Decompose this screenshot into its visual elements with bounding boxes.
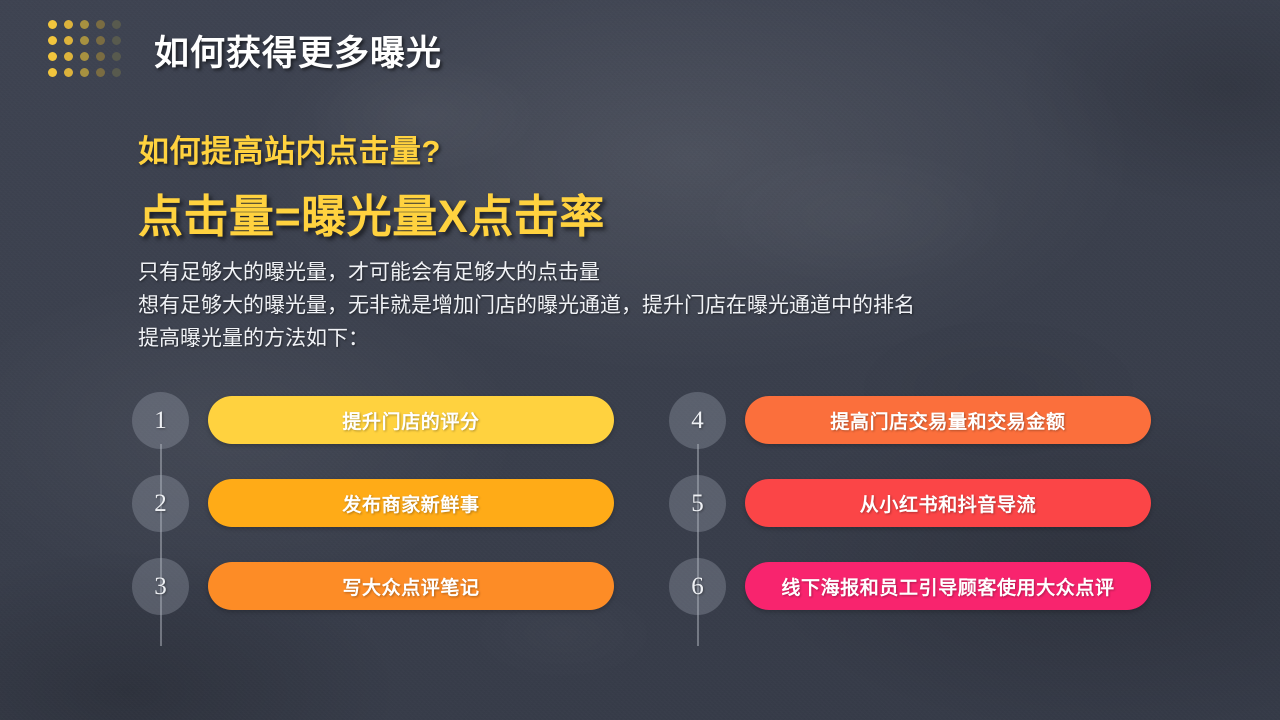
step-item[interactable]: 3 写大众点评笔记 (132, 562, 614, 610)
step-item[interactable]: 1 提升门店的评分 (132, 396, 614, 444)
step-number-badge: 4 (669, 392, 726, 449)
slide-header: 如何获得更多曝光 (0, 0, 1280, 100)
step-pill-button[interactable]: 发布商家新鲜事 (208, 479, 614, 527)
step-number-badge: 5 (669, 475, 726, 532)
step-pill-button[interactable]: 提升门店的评分 (208, 396, 614, 444)
step-item[interactable]: 2 发布商家新鲜事 (132, 479, 614, 527)
body-line: 提高曝光量的方法如下： (138, 322, 1158, 355)
dot-grid-dot (96, 68, 105, 77)
step-number-badge: 1 (132, 392, 189, 449)
step-item[interactable]: 4 提高门店交易量和交易金额 (669, 396, 1151, 444)
steps-column-right: 4 提高门店交易量和交易金额 5 从小红书和抖音导流 6 线下海报和员工引导顾客… (669, 396, 1151, 610)
page-title: 如何获得更多曝光 (154, 25, 442, 76)
dot-grid-dot (112, 20, 121, 29)
dot-grid-dot (64, 52, 73, 61)
step-item[interactable]: 6 线下海报和员工引导顾客使用大众点评 (669, 562, 1151, 610)
step-pill-button[interactable]: 写大众点评笔记 (208, 562, 614, 610)
dot-grid-dot (64, 20, 73, 29)
dot-grid-dot (64, 68, 73, 77)
step-pill-button[interactable]: 线下海报和员工引导顾客使用大众点评 (745, 562, 1151, 610)
steps-container: 1 提升门店的评分 2 发布商家新鲜事 3 写大众点评笔记 4 提高门店交易量和… (132, 396, 1152, 610)
dot-grid-dot (48, 52, 57, 61)
dot-grid-icon (48, 20, 124, 80)
dot-grid-dot (80, 52, 89, 61)
dot-grid-dot (112, 36, 121, 45)
dot-grid-dot (48, 68, 57, 77)
step-item[interactable]: 5 从小红书和抖音导流 (669, 479, 1151, 527)
body-paragraph: 只有足够大的曝光量，才可能会有足够大的点击量 想有足够大的曝光量，无非就是增加门… (138, 256, 1158, 355)
step-number-badge: 2 (132, 475, 189, 532)
step-pill-button[interactable]: 提高门店交易量和交易金额 (745, 396, 1151, 444)
dot-grid-dot (80, 68, 89, 77)
dot-grid-dot (48, 36, 57, 45)
steps-column-left: 1 提升门店的评分 2 发布商家新鲜事 3 写大众点评笔记 (132, 396, 614, 610)
dot-grid-dot (96, 52, 105, 61)
dot-grid-dot (64, 36, 73, 45)
slide: 如何获得更多曝光 如何提高站内点击量? 点击量=曝光量X点击率 只有足够大的曝光… (0, 0, 1280, 720)
step-number-badge: 3 (132, 558, 189, 615)
dot-grid-dot (96, 36, 105, 45)
sub-heading: 如何提高站内点击量? (138, 126, 441, 171)
body-line: 只有足够大的曝光量，才可能会有足够大的点击量 (138, 256, 1158, 289)
dot-grid-dot (80, 36, 89, 45)
formula-heading: 点击量=曝光量X点击率 (138, 180, 605, 245)
step-number-badge: 6 (669, 558, 726, 615)
dot-grid-dot (80, 20, 89, 29)
body-line: 想有足够大的曝光量，无非就是增加门店的曝光通道，提升门店在曝光通道中的排名 (138, 289, 1158, 322)
step-pill-button[interactable]: 从小红书和抖音导流 (745, 479, 1151, 527)
dot-grid-dot (96, 20, 105, 29)
dot-grid-dot (112, 68, 121, 77)
dot-grid-dot (48, 20, 57, 29)
slide-content: 如何获得更多曝光 如何提高站内点击量? 点击量=曝光量X点击率 只有足够大的曝光… (0, 0, 1280, 720)
dot-grid-dot (112, 52, 121, 61)
